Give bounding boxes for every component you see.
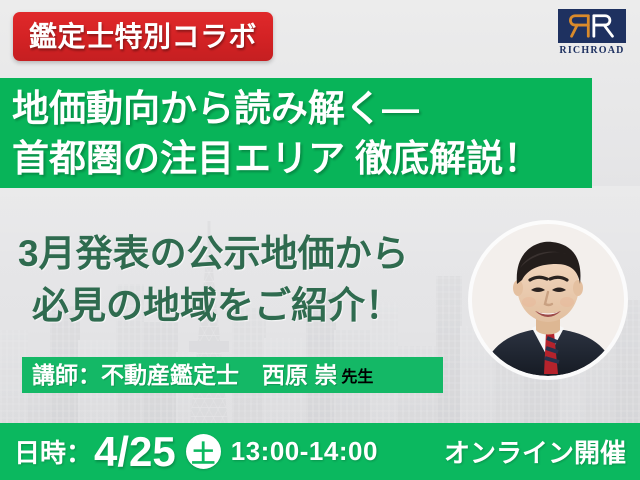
speaker-honorific: 先生 [341,363,373,387]
schedule-date: 4/25 [94,431,176,473]
speaker-band: 講師：不動産鑑定士 西原 崇 先生 [22,357,443,393]
speaker-portrait-avatar [472,224,624,376]
logo-wordmark: RICHROAD [558,45,626,56]
seminar-banner: 鑑定士特別コラボ RICHROAD 地価動向から読み解く― 首都圏の注目エリ [0,0,640,480]
schedule-bar: 日時： 4/25 土 13:00-14:00 オンライン開催 [0,423,640,480]
subheadline-block: 3月発表の公示地価から 必見の地域をご紹介！ [18,228,458,332]
richroad-logo: RICHROAD [558,9,626,56]
speaker-name: 講師：不動産鑑定士 西原 崇 [32,364,337,387]
headline-band: 地価動向から読み解く― 首都圏の注目エリア 徹底解説！ [0,78,592,188]
headline-line-2: 首都圏の注目エリア 徹底解説！ [12,134,592,184]
schedule-time: 13:00-14:00 [231,436,378,467]
collab-badge: 鑑定士特別コラボ [13,12,273,61]
collab-badge-label: 鑑定士特別コラボ [29,23,257,51]
subheadline-line-1: 3月発表の公示地価から [18,228,458,280]
schedule-delivery-mode: オンライン開催 [444,433,626,470]
subheadline-line-2: 必見の地域をご紹介！ [18,280,458,332]
headline-line-1: 地価動向から読み解く― [12,84,592,134]
logo-monogram-icon [558,9,626,43]
schedule-day-of-week-badge: 土 [186,434,221,469]
schedule-label: 日時： [14,433,92,470]
